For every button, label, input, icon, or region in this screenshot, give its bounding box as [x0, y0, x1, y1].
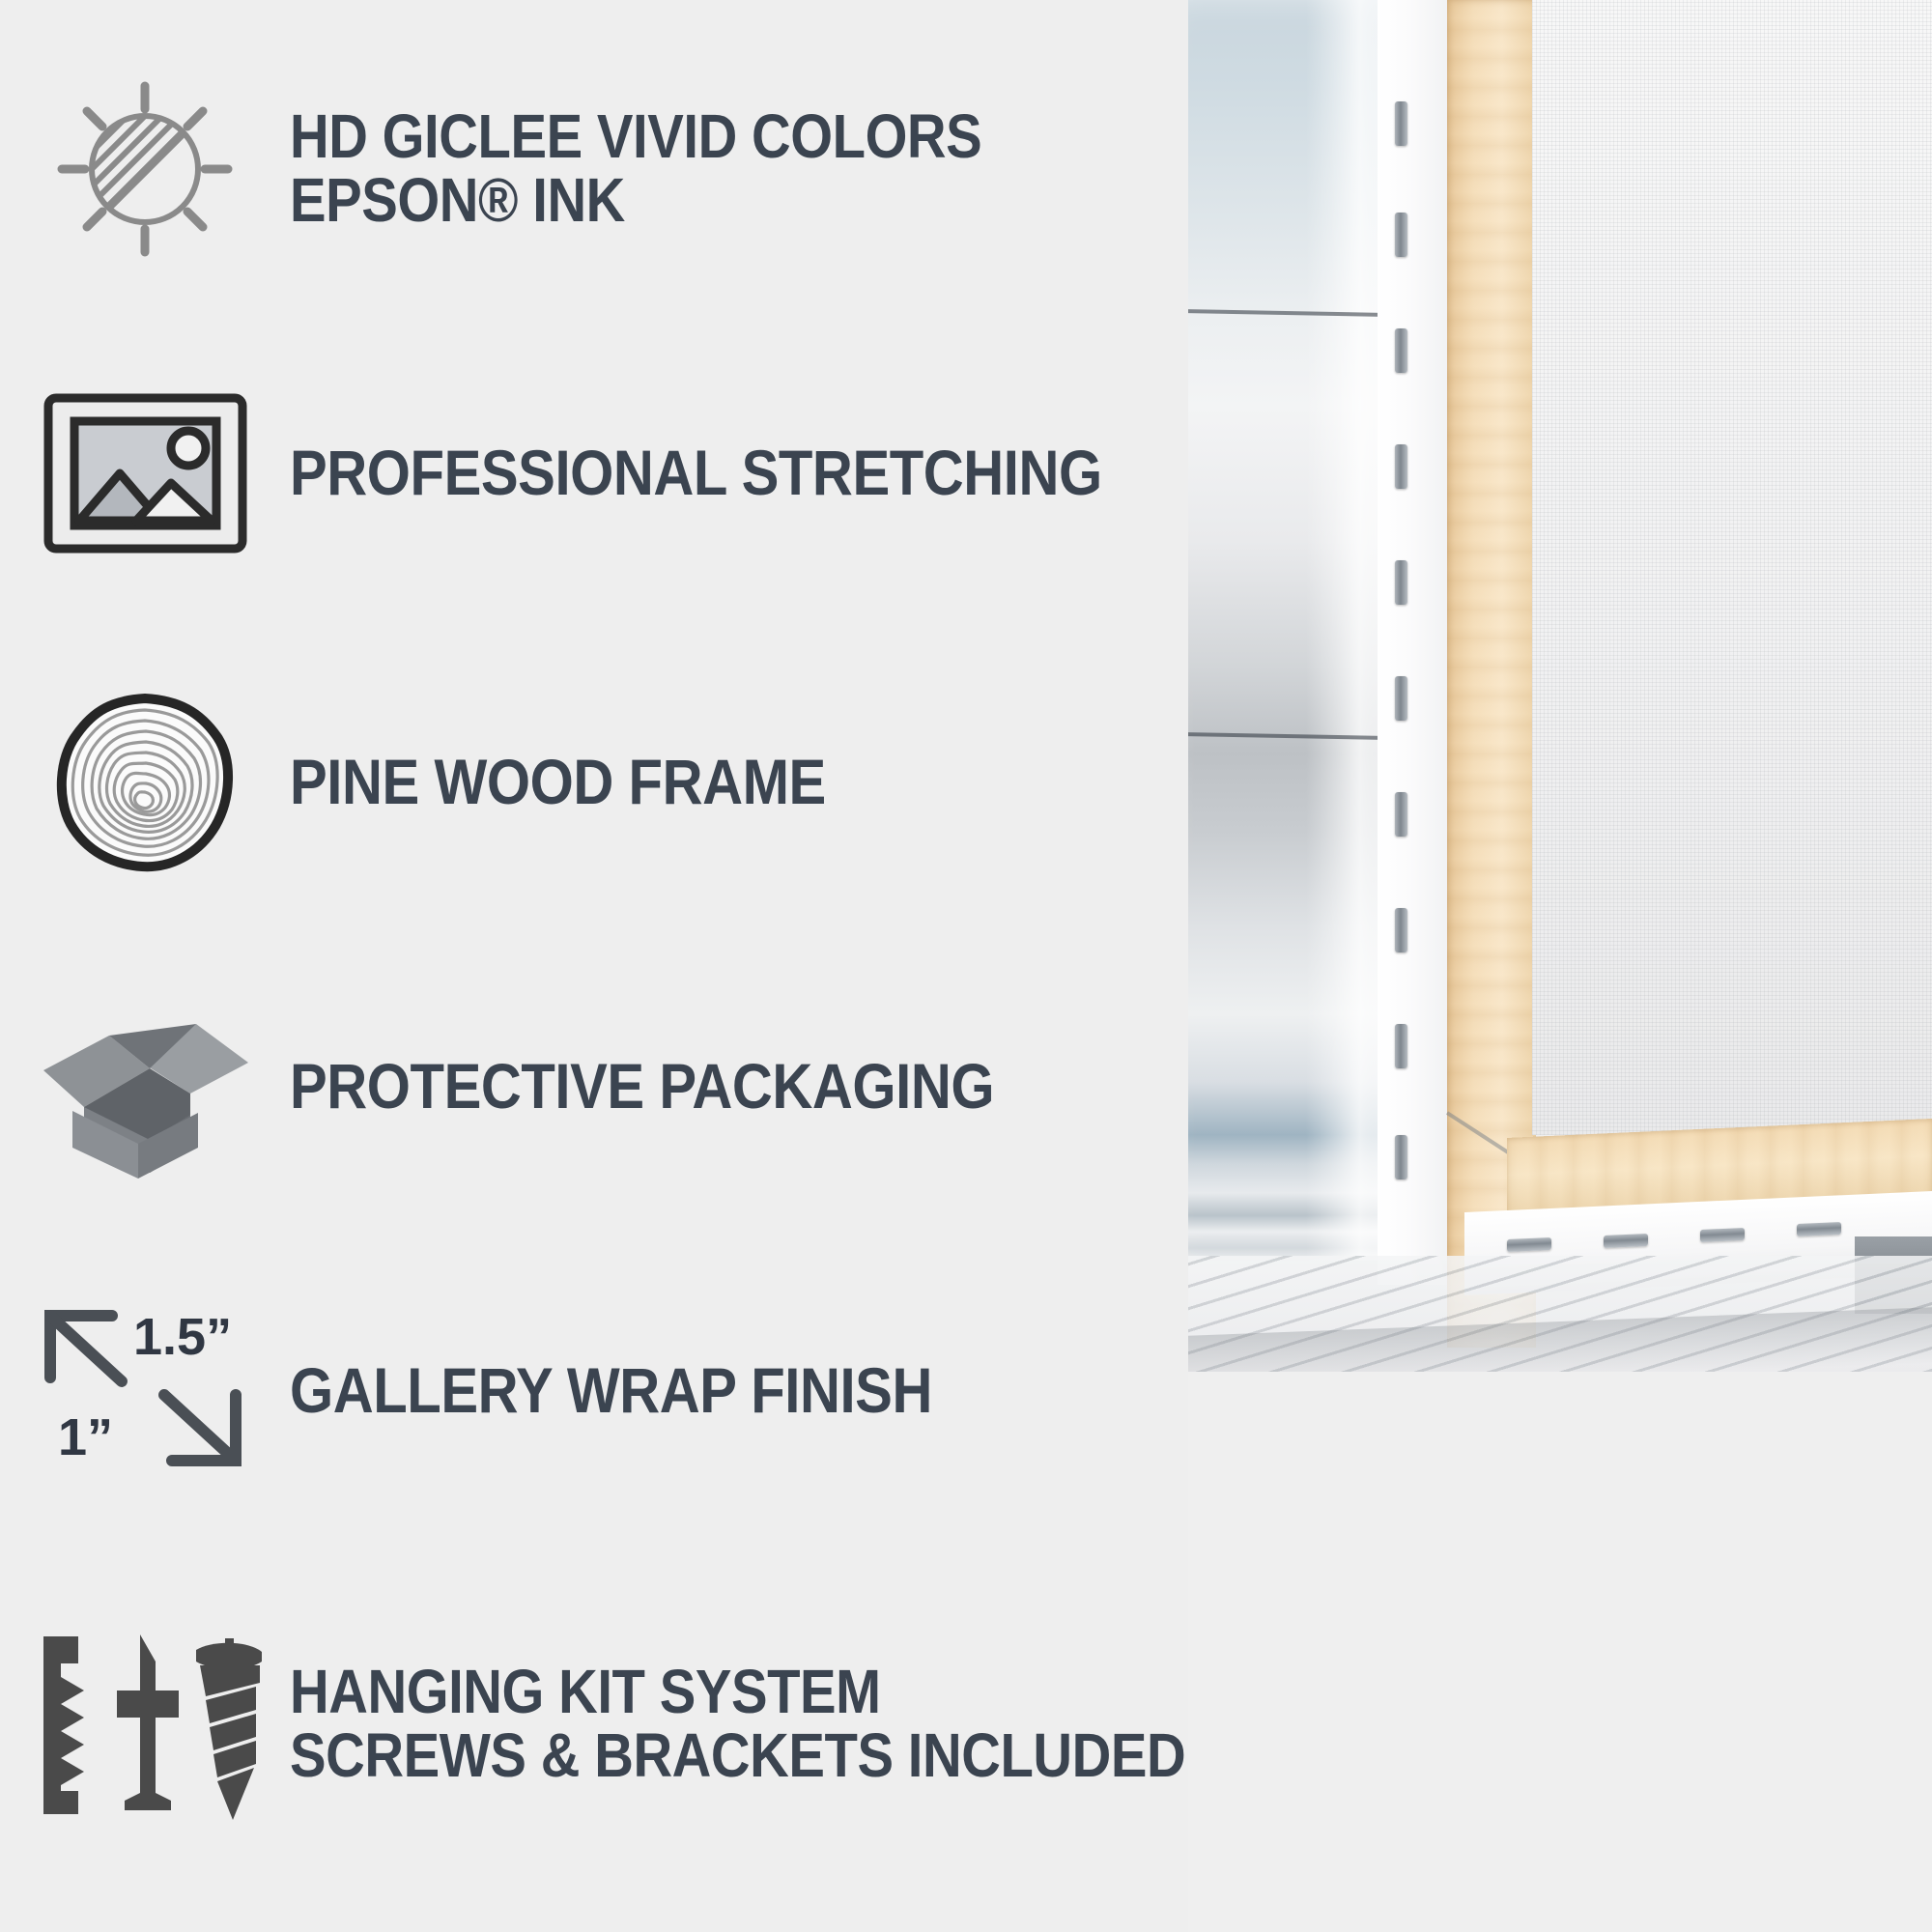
staple: [1395, 908, 1407, 952]
infographic-page: HD GICLEE VIVID COLORSEPSON® INK PROFESS…: [0, 0, 1932, 1932]
hanging-hardware-icon: [24, 1621, 266, 1829]
staple: [1395, 444, 1407, 489]
hanging-hardware-icon-cell: [0, 1613, 290, 1835]
staple: [1395, 1135, 1407, 1179]
feature-row-giclee: HD GICLEE VIVID COLORSEPSON® INK: [0, 58, 1217, 280]
depth-arrows-icon-cell: 1.5” 1”: [0, 1280, 290, 1502]
product-photo: [1188, 0, 1932, 1932]
canvas-wrap-fold: [1378, 0, 1449, 1285]
open-box-icon: [34, 993, 256, 1181]
picture-frame-icon-cell: [0, 362, 290, 584]
feature-label-hanging-kit: HANGING KIT SYSTEMSCREWS & BRACKETS INCL…: [290, 1661, 1185, 1788]
feature-label-line1: HANGING KIT SYSTEM: [290, 1657, 881, 1726]
staple: [1395, 213, 1407, 257]
staple: [1395, 101, 1407, 146]
staple: [1395, 560, 1407, 605]
photo-floor: [1188, 1372, 1932, 1932]
feature-label-packaging: PROTECTIVE PACKAGING: [290, 1054, 1106, 1120]
feature-label-line1: HD GICLEE VIVID COLORS: [290, 101, 981, 171]
feature-row-packaging: PROTECTIVE PACKAGING: [0, 976, 1217, 1198]
staple: [1700, 1228, 1745, 1242]
depth-arrows-icon: 1.5” 1”: [29, 1294, 261, 1488]
staple: [1604, 1234, 1648, 1248]
canvas-back-surface: [1532, 0, 1932, 1135]
staple: [1797, 1222, 1841, 1236]
feature-label-line2: SCREWS & BRACKETS INCLUDED: [290, 1720, 1185, 1790]
depth-label-upper: 1.5”: [133, 1308, 232, 1366]
canvas-printed-edge: [1188, 0, 1381, 1261]
feature-label-stretching: PROFESSIONAL STRETCHING: [290, 440, 1106, 506]
feature-label-gallery-wrap: GALLERY WRAP FINISH: [290, 1358, 1106, 1424]
sun-print-icon: [48, 72, 241, 266]
depth-label-lower: 1”: [58, 1408, 113, 1466]
wood-ring-icon: [53, 691, 237, 874]
feature-list: HD GICLEE VIVID COLORSEPSON® INK PROFESS…: [0, 0, 1217, 1932]
feature-label-line2: EPSON® INK: [290, 165, 625, 235]
sun-print-icon-cell: [0, 58, 290, 280]
staple: [1395, 328, 1407, 373]
staple: [1395, 792, 1407, 837]
picture-frame-icon: [42, 391, 249, 555]
feature-row-pine-wood: PINE WOOD FRAME: [0, 671, 1217, 894]
feature-row-gallery-wrap: 1.5” 1” GALLERY WRAP FINISH: [0, 1280, 1217, 1502]
open-box-icon-cell: [0, 976, 290, 1198]
feature-label-pine-wood: PINE WOOD FRAME: [290, 750, 1106, 815]
wood-ring-icon-cell: [0, 671, 290, 894]
feature-row-hanging-kit: HANGING KIT SYSTEMSCREWS & BRACKETS INCL…: [0, 1613, 1217, 1835]
staple: [1395, 1024, 1407, 1068]
staple: [1395, 676, 1407, 721]
feature-row-stretching: PROFESSIONAL STRETCHING: [0, 362, 1217, 584]
feature-label-giclee: HD GICLEE VIVID COLORSEPSON® INK: [290, 105, 1106, 233]
staple: [1507, 1237, 1551, 1252]
